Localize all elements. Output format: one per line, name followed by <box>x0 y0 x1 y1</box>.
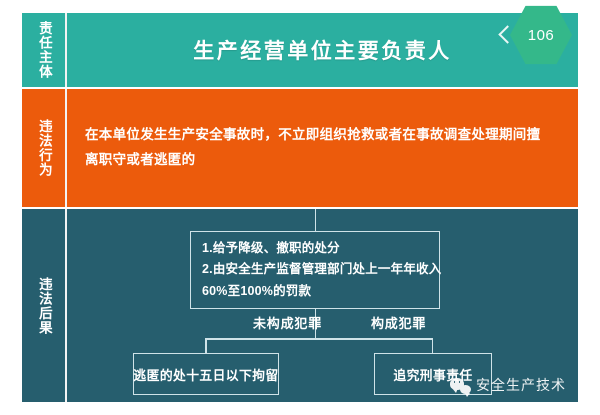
penalty-item-1: 1.给予降级、撤职的处分 <box>202 238 340 260</box>
slide-poster: 责任主体 生产经营单位主要负责人 106 违法行为 在本单位发生生产安全事故时，… <box>0 0 600 415</box>
hexagon-shape: 106 <box>510 4 572 66</box>
penalty-item-3: 60%至100%的罚款 <box>202 281 311 303</box>
connector-split-bar <box>205 338 433 340</box>
branch-label-not-crime: 未构成犯罪 <box>253 313 322 332</box>
page-number: 106 <box>528 27 555 44</box>
row-label-legal-consequence: 违法后果 <box>22 209 67 402</box>
connector-leg-right <box>432 338 434 354</box>
consequence-flowchart: 1.给予降级、撤职的处分 2.由安全生产监督管理部门处上一年年收入 60%至10… <box>67 209 578 402</box>
outcome-box-detention: 逃匿的处十五日以下拘留 <box>133 353 279 395</box>
row-label-responsible-subject: 责任主体 <box>22 13 67 87</box>
row-illegal-act: 违法行为 在本单位发生生产安全事故时，不立即组织抢救或者在事故调查处理期间擅离职… <box>22 89 578 207</box>
row-legal-consequence: 违法后果 1.给予降级、撤职的处分 2.由安全生产监督管理部门处上一年年收入 6… <box>22 209 578 402</box>
branch-label-crime: 构成犯罪 <box>371 313 426 332</box>
consequence-cell: 1.给予降级、撤职的处分 2.由安全生产监督管理部门处上一年年收入 60%至10… <box>67 209 578 402</box>
outcome-detention-text: 逃匿的处十五日以下拘留 <box>133 365 278 384</box>
page-title: 生产经营单位主要负责人 <box>67 35 578 65</box>
penalty-item-2: 2.由安全生产监督管理部门处上一年年收入 <box>202 259 441 281</box>
header-cell: 生产经营单位主要负责人 106 <box>67 13 578 87</box>
legal-liability-table: 责任主体 生产经营单位主要负责人 106 违法行为 在本单位发生生产安全事故时，… <box>22 13 578 402</box>
illegal-act-text: 在本单位发生生产安全事故时，不立即组织抢救或者在事故调查处理期间擅离职守或者逃匿… <box>85 123 554 173</box>
row-responsible-subject: 责任主体 生产经营单位主要负责人 106 <box>22 13 578 87</box>
watermark: 安全生产技术 <box>450 377 566 394</box>
penalty-box: 1.给予降级、撤职的处分 2.由安全生产监督管理部门处上一年年收入 60%至10… <box>190 231 440 309</box>
illegal-act-line-2: 守或者逃匿的 <box>113 152 196 167</box>
wechat-icon <box>450 377 471 394</box>
row-label-illegal-act: 违法行为 <box>22 89 67 207</box>
page-number-badge: 106 <box>510 4 572 66</box>
illegal-act-cell: 在本单位发生生产安全事故时，不立即组织抢救或者在事故调查处理期间擅离职守或者逃匿… <box>67 89 578 207</box>
watermark-text: 安全生产技术 <box>476 378 566 393</box>
connector-stem-top <box>315 209 317 232</box>
connector-leg-left <box>205 338 207 354</box>
